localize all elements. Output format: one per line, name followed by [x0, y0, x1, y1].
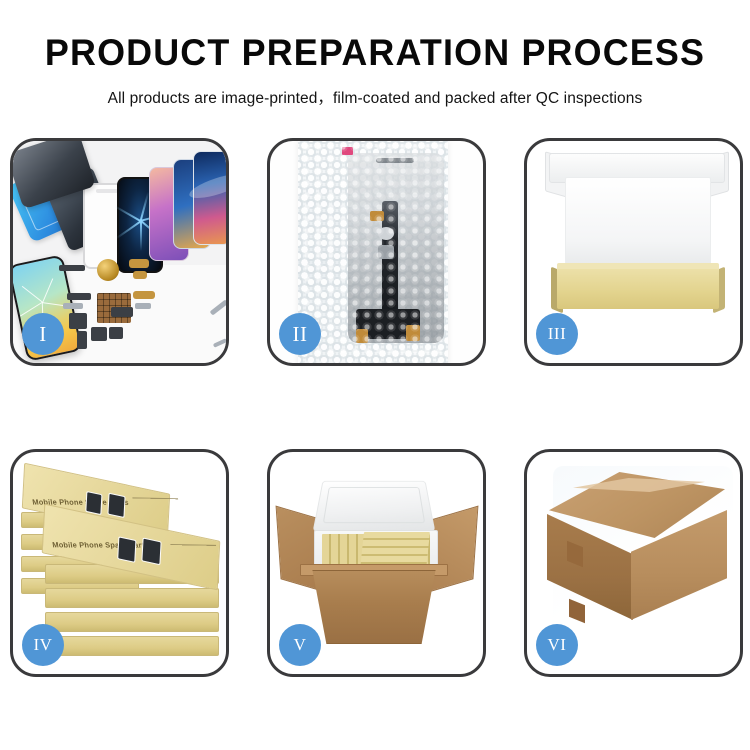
carton-front-panel — [304, 570, 444, 644]
carton-label-lower — [569, 599, 585, 623]
step-badge-5: V — [279, 624, 321, 666]
camera-module-part — [69, 313, 87, 329]
process-step-panel-2[interactable]: II — [267, 138, 486, 366]
ic-chip-part — [111, 307, 133, 317]
bracket-part — [63, 303, 83, 309]
ic-connector-icon — [378, 245, 394, 259]
page-subtitle: All products are image-printed，film-coat… — [0, 86, 750, 108]
step-badge-6: VI — [536, 624, 578, 666]
sim-tray-part — [109, 327, 123, 339]
speaker-part — [77, 331, 87, 349]
stack-box-right-4 — [45, 636, 219, 656]
earpiece-speaker-part — [59, 265, 85, 271]
step-badge-1: I — [22, 313, 64, 355]
page-title: PRODUCT PREPARATION PROCESS — [11, 34, 739, 73]
process-step-panel-4[interactable]: Mobile Phone Spare Parts Mobile Phone Sp… — [10, 449, 229, 677]
flex-cable-part-b — [133, 271, 147, 279]
process-step-panel-5[interactable]: V — [267, 449, 486, 677]
process-step-grid: I II — [10, 138, 742, 677]
process-step-panel-3[interactable]: III — [524, 138, 743, 366]
button-part — [91, 327, 107, 341]
connector-part-a — [67, 293, 91, 300]
gold-tab-left — [356, 329, 368, 343]
process-step-panel-6[interactable]: VI — [524, 449, 743, 677]
stack-box-right-3 — [45, 612, 219, 632]
pink-qc-sticker-icon — [342, 147, 353, 155]
flex-cable-part-c — [133, 291, 155, 299]
carton-left-face — [547, 514, 633, 620]
multicolor-gradient-phone-icon — [193, 151, 226, 245]
process-step-panel-1[interactable]: I — [10, 138, 229, 366]
yellow-box-front — [557, 269, 719, 309]
box-checklist-art-2 — [170, 544, 220, 573]
box-screen-art-1b — [107, 493, 125, 518]
gold-connector-top — [370, 211, 384, 221]
box-screen-art-2a — [117, 536, 136, 563]
step-badge-3: III — [536, 313, 578, 355]
box-screen-art-1a — [85, 491, 102, 515]
stack-box-right-2 — [45, 588, 219, 608]
step-badge-2: II — [279, 313, 321, 355]
vibration-motor-icon — [97, 259, 119, 281]
step-badge-4: IV — [22, 624, 64, 666]
white-foam-sheet-icon — [565, 177, 711, 269]
foam-box-lid-icon — [313, 481, 436, 532]
product-preparation-process-page: PRODUCT PREPARATION PROCESS All products… — [0, 0, 750, 750]
page-header: PRODUCT PREPARATION PROCESS All products… — [0, 0, 750, 108]
gold-tab-right — [406, 325, 420, 341]
shield-plate-part — [135, 303, 151, 309]
box-checklist-art-1 — [132, 497, 182, 526]
box-screen-art-2b — [141, 537, 161, 565]
flex-cable-part-a — [129, 259, 149, 268]
camera-hole-icon — [378, 227, 394, 240]
